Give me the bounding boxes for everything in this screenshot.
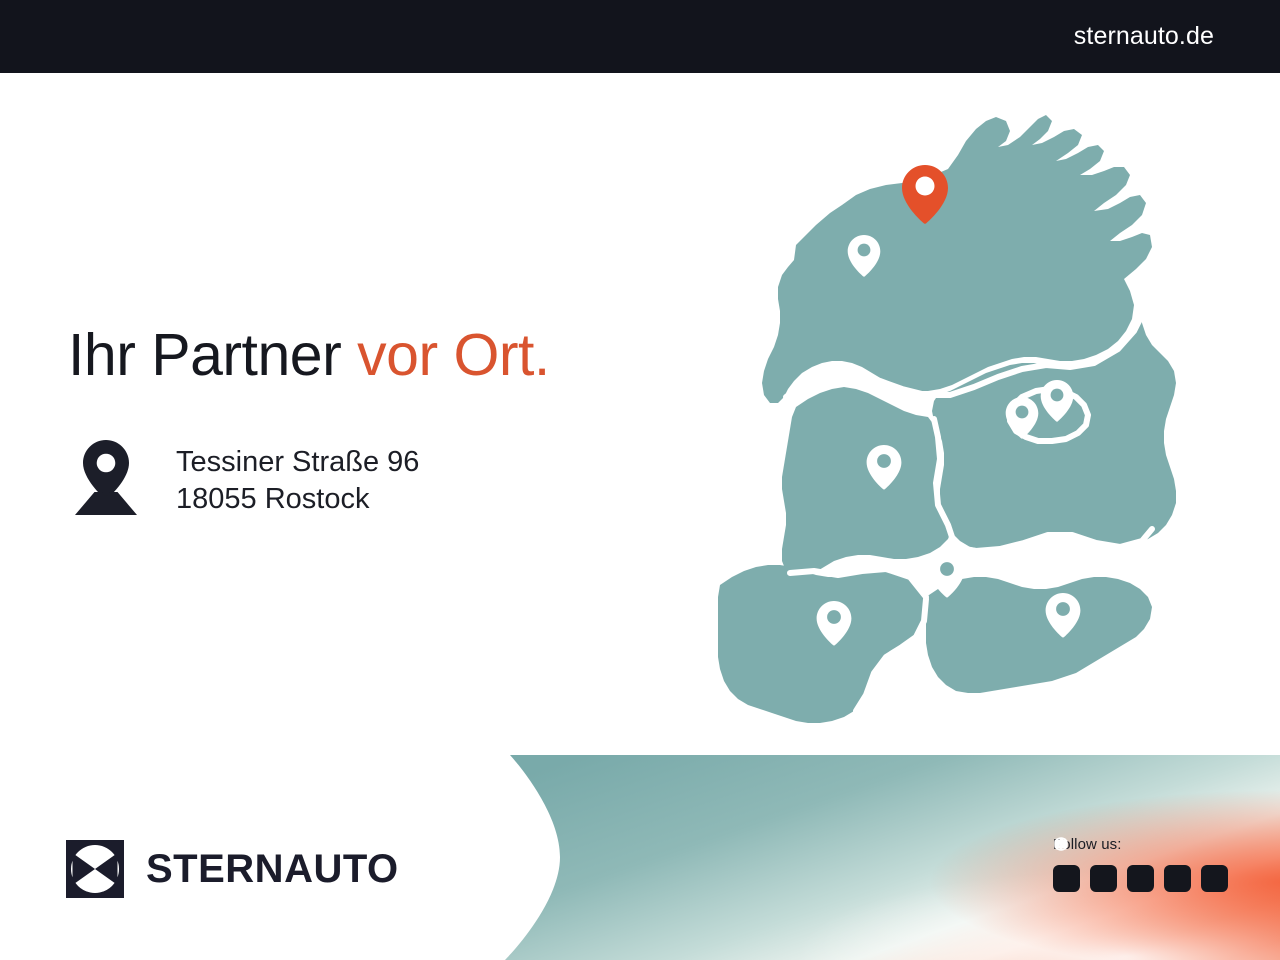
brand-logo[interactable]: STERNAUTO xyxy=(66,840,399,898)
website-url[interactable]: sternauto.de xyxy=(1074,22,1214,51)
map-regions xyxy=(718,115,1176,723)
location-pin-icon xyxy=(70,438,142,518)
instagram-icon[interactable] xyxy=(1127,865,1154,892)
address-block: Tessiner Straße 96 18055 Rostock xyxy=(70,438,419,518)
headline-part-accent: vor Ort. xyxy=(357,322,550,388)
sternauto-mark-icon xyxy=(66,840,124,898)
region-mecklenburg-vorpommern xyxy=(762,115,1152,403)
page-title: Ihr Partner vor Ort. xyxy=(68,325,550,387)
linkedin-icon[interactable] xyxy=(1164,865,1191,892)
region-thueringen xyxy=(718,565,926,723)
facebook-icon[interactable] xyxy=(1090,865,1117,892)
region-sachsen xyxy=(926,577,1152,693)
slide-root: sternauto.de Ihr Partner vor Ort. Tessin… xyxy=(0,0,1280,960)
address-text: Tessiner Straße 96 18055 Rostock xyxy=(176,438,419,517)
brand-wordmark: STERNAUTO xyxy=(146,847,399,892)
follow-us-block: Follow us: xyxy=(1053,836,1228,892)
threads-icon[interactable] xyxy=(1201,865,1228,892)
top-bar: sternauto.de xyxy=(0,0,1280,73)
address-line-street: Tessiner Straße 96 xyxy=(176,444,419,481)
headline-part-primary: Ihr Partner xyxy=(68,322,357,388)
region-sachsen-anhalt xyxy=(782,387,952,577)
youtube-icon[interactable] xyxy=(1053,865,1080,892)
social-links xyxy=(1053,865,1228,892)
address-line-city: 18055 Rostock xyxy=(176,481,419,518)
germany-east-map[interactable] xyxy=(690,85,1220,750)
